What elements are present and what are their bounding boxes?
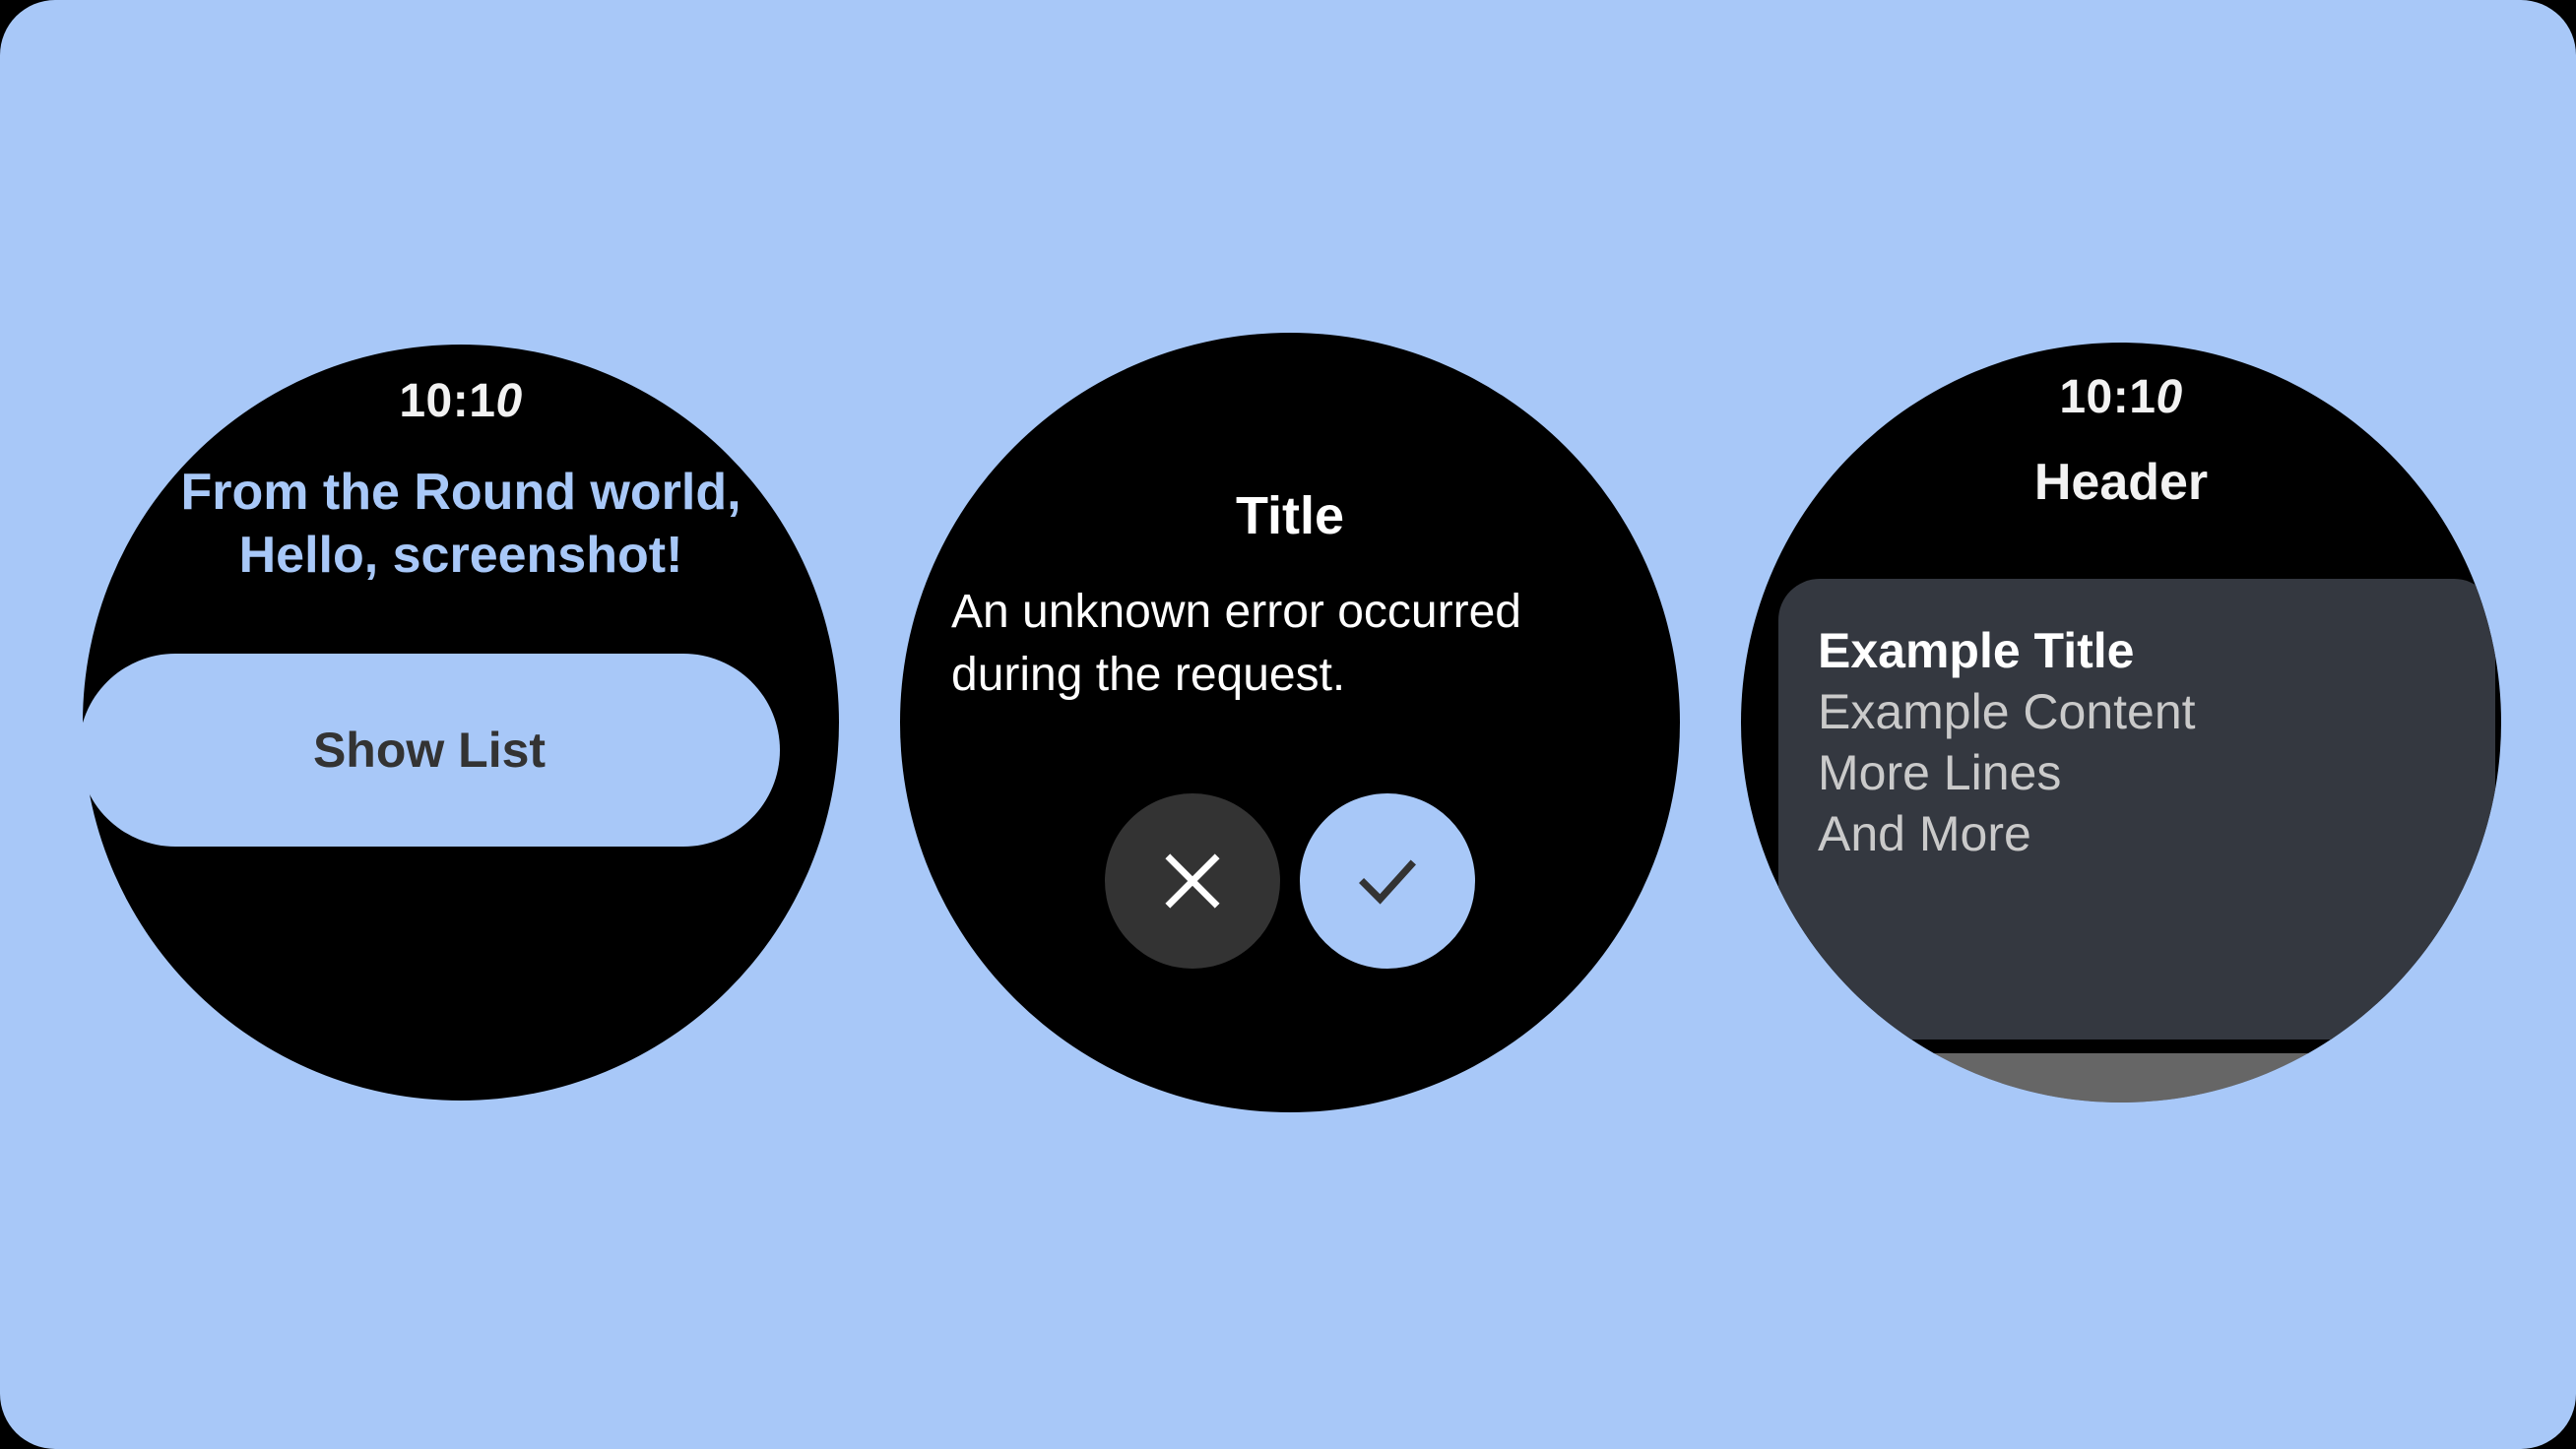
status-time-prefix: 10:1 — [399, 375, 495, 427]
close-icon — [1154, 843, 1231, 919]
status-time-suffix: 0 — [2156, 370, 2182, 424]
bottom-scrim — [1741, 1053, 2501, 1102]
alert-message: An unknown error occurred during the req… — [951, 581, 1642, 707]
watch-face-greeting: 10:10 From the Round world, Hello, scree… — [83, 345, 839, 1101]
watch3-screen: 10:10 Header Example Title Example Conte… — [1741, 343, 2501, 1102]
watch-face-alert: Title An unknown error occurred during t… — [900, 333, 1680, 1112]
status-time: 10:10 — [83, 374, 839, 428]
card-title: Example Title — [1818, 620, 2495, 681]
alert-title: Title — [900, 485, 1680, 546]
example-card[interactable]: Example Title Example Content More Lines… — [1778, 579, 2495, 1039]
confirm-button[interactable] — [1300, 793, 1475, 969]
card-line: Example Content — [1818, 681, 2495, 742]
watch-face-card: 10:10 Header Example Title Example Conte… — [1741, 343, 2501, 1102]
status-time: 10:10 — [1741, 370, 2501, 424]
show-list-button-label: Show List — [313, 722, 546, 779]
screen-header: Header — [1741, 453, 2501, 512]
show-list-button[interactable]: Show List — [79, 654, 780, 847]
greeting-text: From the Round world, Hello, screenshot! — [122, 461, 800, 587]
status-time-suffix: 0 — [495, 374, 522, 428]
status-time-prefix: 10:1 — [2059, 371, 2156, 423]
card-line: More Lines — [1818, 742, 2495, 803]
check-icon — [1347, 841, 1428, 921]
card-line: And More — [1818, 803, 2495, 864]
dismiss-button[interactable] — [1105, 793, 1280, 969]
watch2-screen: Title An unknown error occurred during t… — [900, 333, 1680, 1112]
alert-actions — [900, 793, 1680, 969]
screenshot-canvas: 10:10 From the Round world, Hello, scree… — [0, 0, 2576, 1449]
